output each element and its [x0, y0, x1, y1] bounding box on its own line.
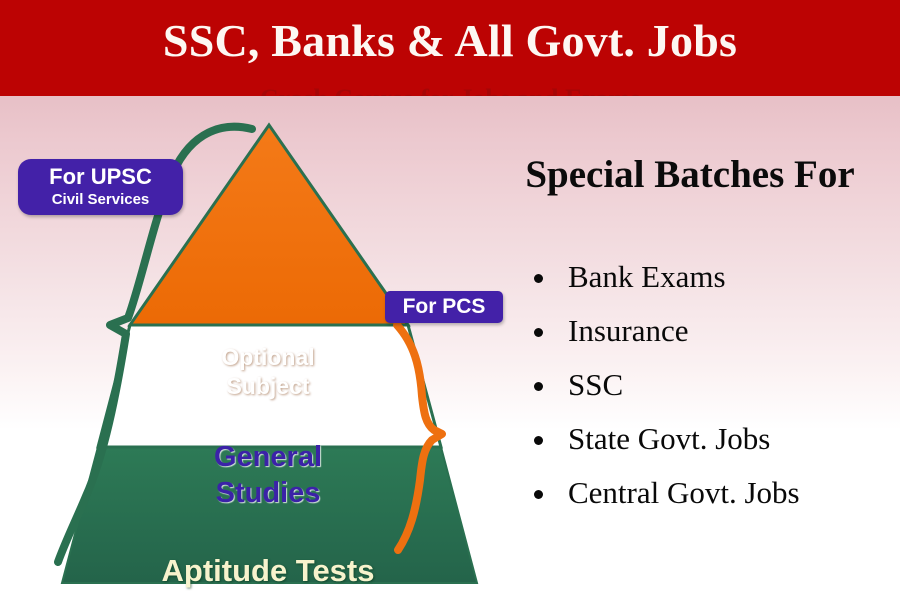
banner-title: SSC, Banks & All Govt. Jobs [0, 12, 900, 70]
poster-canvas: Crash Course for Jobs and Exams SSC, Ban… [0, 0, 900, 600]
pyramid-tier-optional-subject [130, 125, 408, 325]
badge-for-upsc: For UPSC Civil Services [18, 159, 183, 215]
special-batches-heading: Special Batches For [480, 152, 900, 198]
list-item: State Govt. Jobs [512, 412, 900, 466]
header-banner: Crash Course for Jobs and Exams SSC, Ban… [0, 0, 900, 96]
banner-subtitle: Crash Course for Jobs and Exams [0, 84, 900, 96]
badge-upsc-subtitle: Civil Services [18, 190, 183, 209]
list-item: Insurance [512, 304, 900, 358]
badge-upsc-title: For UPSC [18, 164, 183, 190]
pyramid-tier-general-studies [98, 325, 441, 447]
special-batches-panel: Special Batches For Bank Exams Insurance… [480, 140, 900, 560]
list-item: Central Govt. Jobs [512, 466, 900, 520]
list-item: SSC [512, 358, 900, 412]
list-item: Bank Exams [512, 250, 900, 304]
special-batches-list: Bank Exams Insurance SSC State Govt. Job… [512, 250, 900, 520]
